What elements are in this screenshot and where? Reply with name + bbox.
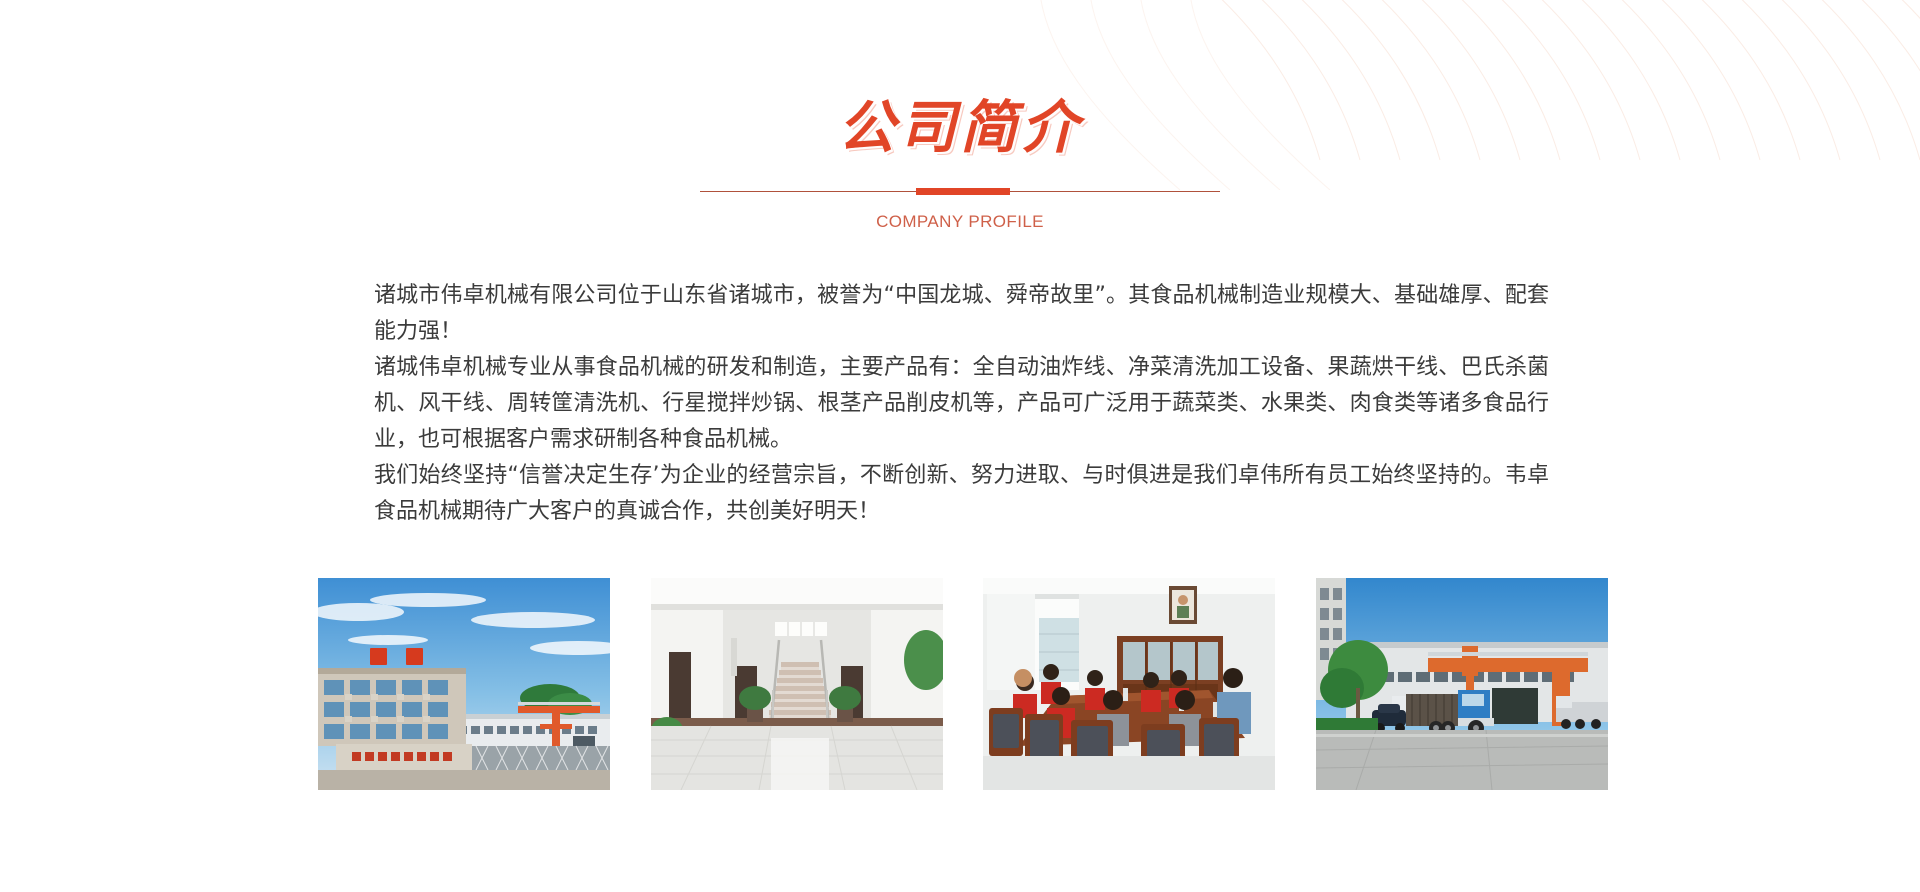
paragraph-1: 诸城市伟卓机械有限公司位于山东省诸城市，被誉为“中国龙城、舜帝故里”。其食品机械… [374, 278, 1549, 350]
company-profile-page: 公司简介 COMPANY PROFILE 诸城市伟卓机械有限公司位于山东省诸城市… [0, 0, 1920, 892]
factory-exterior-photo[interactable]: 诸城伟卓机械有限公司 厂区办公楼外景 [318, 578, 610, 790]
photo-gallery: 诸城伟卓机械有限公司 厂区办公楼外景 [318, 578, 1608, 790]
paragraph-2: 诸城伟卓机械专业从事食品机械的研发和制造，主要产品有：全自动油炸线、净菜清洗加工… [374, 350, 1549, 458]
workshop-yard-photo[interactable]: 车间厂区龙门吊与货车装运 [1316, 578, 1608, 790]
divider-accent-tab [916, 188, 1010, 195]
meeting-room-photo[interactable]: 员工会议室会议场景 [983, 578, 1275, 790]
title-divider [700, 188, 1220, 196]
page-title: 公司简介 [0, 98, 1920, 158]
page-subtitle: COMPANY PROFILE [0, 211, 1920, 233]
office-lobby-photo[interactable]: 办公楼大厅楼梯 [651, 578, 943, 790]
company-description: 诸城市伟卓机械有限公司位于山东省诸城市，被誉为“中国龙城、舜帝故里”。其食品机械… [374, 278, 1549, 530]
paragraph-3: 我们始终坚持“信誉决定生存’为企业的经营宗旨，不断创新、努力进取、与时俱进是我们… [374, 458, 1549, 530]
